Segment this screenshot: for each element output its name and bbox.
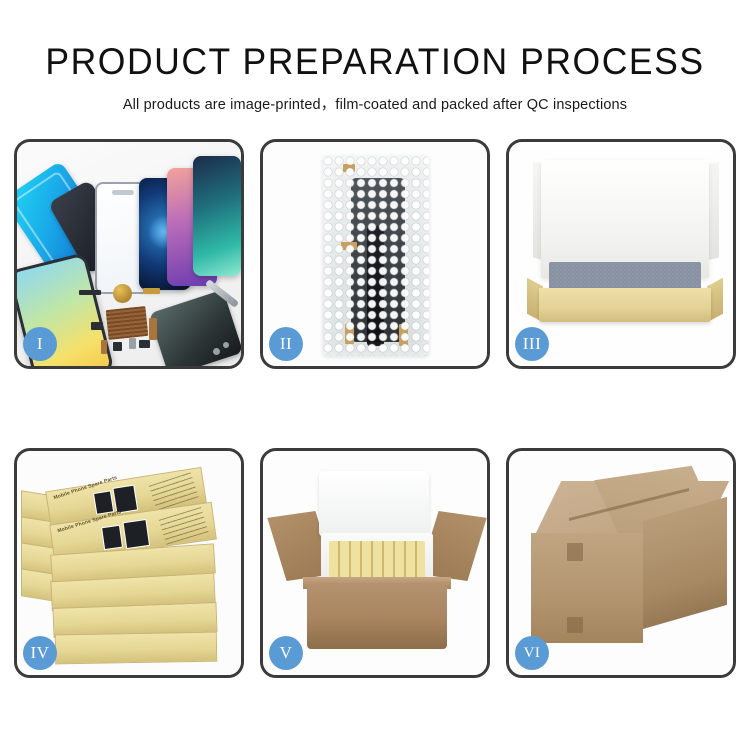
carton-front <box>307 583 447 649</box>
spec-lines <box>159 507 209 545</box>
screw <box>223 342 229 348</box>
small-part <box>149 318 157 340</box>
carton-flap-tab <box>567 617 583 633</box>
carton-front-face <box>531 533 643 643</box>
product-preparation-infographic: PRODUCT PREPARATION PROCESS All products… <box>0 0 750 750</box>
speaker-part <box>113 284 132 303</box>
page-title: PRODUCT PREPARATION PROCESS <box>15 0 735 82</box>
step-panel-4: Mobile Phone Spare Parts Mobile Phone Sp… <box>14 448 244 678</box>
carton-side-face <box>643 497 727 629</box>
retail-box <box>55 632 217 665</box>
screen-image <box>101 525 123 550</box>
small-part <box>91 322 103 330</box>
header: PRODUCT PREPARATION PROCESS All products… <box>0 0 750 114</box>
small-part <box>143 288 160 294</box>
page-subtitle: All products are image-printed，film-coat… <box>0 82 750 114</box>
teal-display-phone <box>193 156 241 276</box>
step-badge-2: II <box>269 327 303 361</box>
bubble-texture <box>323 156 429 356</box>
carton-flap-tab <box>567 543 583 561</box>
step-panel-2: II <box>260 139 490 369</box>
box-front-kraft <box>539 288 711 322</box>
step-badge-1: I <box>23 327 57 361</box>
step-badge-6: VI <box>515 636 549 670</box>
circuit-board-part <box>106 306 149 340</box>
step-panel-3: III <box>506 139 736 369</box>
step-badge-5: V <box>269 636 303 670</box>
box-white-lid <box>541 160 709 278</box>
screw <box>213 348 220 355</box>
foam-box-lid <box>319 471 429 537</box>
bubble-wrap-bag <box>323 156 429 356</box>
small-part <box>101 340 107 354</box>
step-panel-5: V <box>260 448 490 678</box>
step-panel-6: VI <box>506 448 736 678</box>
small-part <box>139 340 150 348</box>
screen-image <box>123 519 151 549</box>
small-part <box>113 342 122 351</box>
step-badge-3: III <box>515 327 549 361</box>
small-part <box>129 338 136 349</box>
step-panel-1: I <box>14 139 244 369</box>
process-steps-grid: I II <box>14 139 736 681</box>
step-badge-4: IV <box>23 636 57 670</box>
small-part <box>79 290 101 295</box>
